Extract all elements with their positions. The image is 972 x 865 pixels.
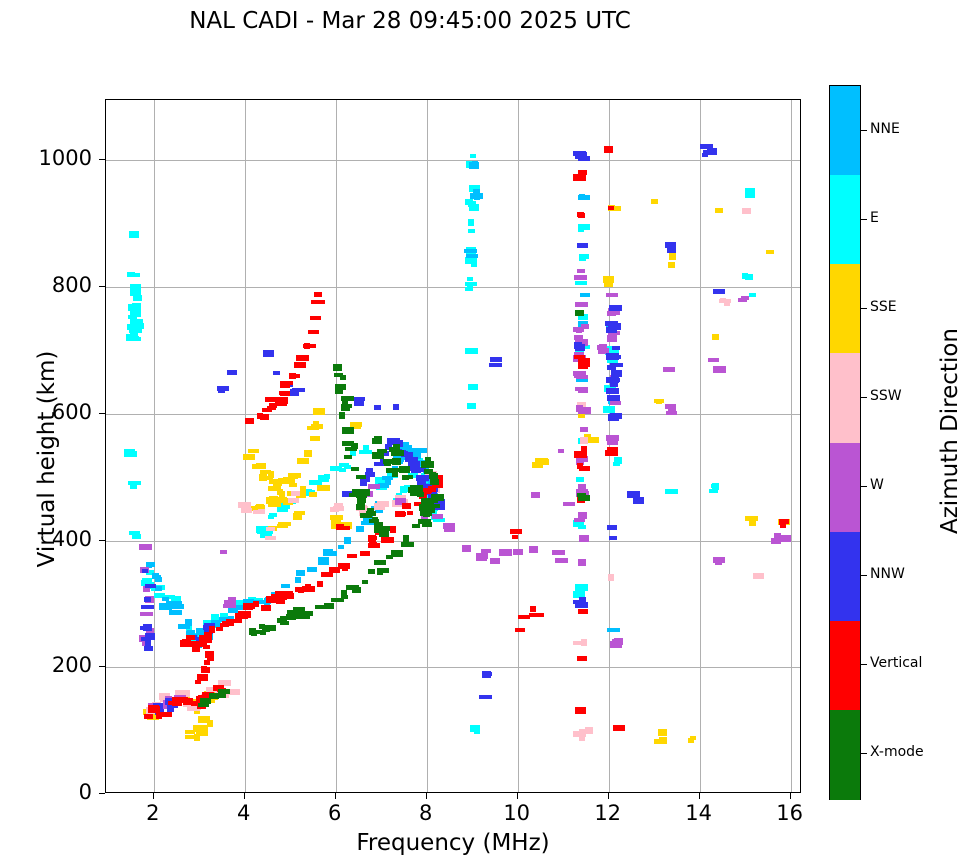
echo-marker [310,316,321,320]
echo-marker [719,299,731,303]
echo-marker [281,595,294,599]
echo-marker [749,293,756,297]
echo-marker [334,373,343,377]
echo-marker [607,441,618,445]
echo-marker [368,536,377,540]
echo-marker [651,199,658,204]
echo-marker [668,262,675,268]
echo-marker [688,738,694,743]
colorbar-label-x-mode: X-mode [870,744,924,760]
echo-marker [465,348,478,354]
echo-marker [310,436,320,441]
echo-marker [129,231,139,238]
x-tick-mark [335,793,336,799]
echo-marker [261,605,271,611]
echo-marker [610,401,621,405]
x-tick-label: 8 [406,801,446,825]
echo-marker [580,293,590,297]
echo-marker [529,613,542,617]
echo-marker [294,473,300,478]
colorbar-label-ssw: SSW [870,388,902,404]
echo-marker [218,689,230,694]
echo-marker [201,666,207,673]
echo-marker [428,504,440,508]
echo-marker [369,542,377,547]
echo-marker [401,542,414,547]
echo-marker [273,371,280,375]
echo-marker [251,630,257,636]
echo-marker [268,471,274,478]
echo-marker [196,731,208,736]
echo-marker [575,310,584,316]
echo-marker [317,485,330,491]
echo-marker [334,503,343,509]
echo-marker [338,545,344,549]
echo-marker [469,162,479,169]
echo-marker [467,403,476,409]
echo-marker [470,154,476,158]
echo-marker [536,459,549,465]
echo-marker [481,549,491,553]
echo-marker [669,253,676,260]
echo-marker [265,536,276,540]
echo-marker [490,558,500,564]
echo-marker [144,646,153,651]
echo-marker [609,536,617,540]
echo-marker [209,626,215,633]
echo-marker [139,544,152,550]
echo-marker [133,295,142,301]
echo-marker [391,550,403,557]
echo-marker [294,362,306,368]
echo-marker [315,605,324,609]
echo-marker [416,475,429,481]
colorbar-tick [861,486,867,487]
echo-marker [577,212,584,217]
echo-marker [155,577,162,582]
colorbar-label-nne: NNE [870,121,900,137]
echo-marker [337,526,350,530]
echo-marker [356,526,364,532]
echo-marker [614,457,622,464]
echo-marker [577,463,583,469]
echo-marker [579,254,589,259]
echo-marker [374,503,385,510]
echo-marker [224,600,234,607]
echo-marker [606,377,619,383]
echo-marker [335,390,343,394]
y-tick-label: 200 [12,653,92,677]
echo-marker [607,311,616,316]
echo-marker [711,484,719,488]
echo-marker [432,514,443,519]
echo-marker [753,573,764,579]
echo-marker [530,606,536,612]
echo-marker [304,450,312,457]
echo-marker [351,467,359,471]
echo-marker [603,406,615,413]
ionogram-figure: NAL CADI - Mar 28 09:45:00 2025 UTC 2468… [0,0,972,865]
colorbar-title: Azimuth Direction [937,276,963,586]
echo-marker [490,357,502,362]
colorbar[interactable] [829,85,861,800]
colorbar-label-w: W [870,477,884,493]
echo-marker [287,381,293,385]
echo-marker [579,194,585,200]
echo-marker [314,292,322,297]
echo-marker [238,611,251,618]
echo-marker [515,628,525,632]
echo-marker [366,511,376,516]
x-tick-mark [699,793,700,799]
echo-marker [277,524,288,528]
echo-marker [410,485,423,492]
echo-marker [207,720,213,727]
echo-marker [514,551,521,555]
echo-marker [749,521,756,526]
x-axis-title: Frequency (MHz) [105,830,801,856]
echo-marker [292,388,305,392]
echo-marker [468,229,475,233]
x-tick-label: 6 [315,801,355,825]
echo-marker [277,397,283,402]
echo-marker [259,474,267,481]
y-axis-title: Virtual height (km) [34,309,60,609]
echo-marker [577,656,587,661]
echo-marker [330,515,343,520]
echo-marker [713,289,725,294]
echo-marker [574,371,585,378]
figure-title: NAL CADI - Mar 28 09:45:00 2025 UTC [0,8,820,34]
echo-marker [354,400,364,406]
echo-marker [611,437,618,441]
echo-marker [341,407,350,411]
echo-marker [392,472,398,477]
echo-marker [606,293,618,297]
echo-marker [339,412,345,419]
echo-marker [468,384,478,390]
echo-marker [578,512,587,519]
colorbar-segment-w[interactable] [830,443,860,533]
echo-marker [575,302,588,307]
echo-marker [389,468,401,472]
x-tick-label: 16 [770,801,810,825]
echo-marker [324,603,334,609]
echo-marker [609,447,618,452]
echo-marker [575,152,587,159]
echo-marker [606,353,619,360]
echo-marker [385,479,391,485]
echo-marker [610,363,623,367]
echo-marker [281,584,290,588]
echo-marker [585,727,593,734]
echo-marker [779,535,791,542]
echo-marker [293,513,302,520]
echo-marker [126,336,139,340]
colorbar-label-e: E [870,210,879,226]
echo-marker [713,366,726,373]
echo-marker [260,414,269,420]
colorbar-segment-sse[interactable] [830,264,860,354]
echo-marker [267,406,276,410]
echo-marker [467,283,473,290]
echo-marker [658,729,667,736]
x-tick-mark [153,793,154,799]
echo-marker [659,737,667,743]
x-tick-mark [790,793,791,799]
echo-marker [578,525,586,529]
echo-marker [229,619,242,623]
echo-marker [144,597,151,602]
echo-marker [243,454,255,460]
x-tick-mark [517,793,518,799]
echo-marker [468,201,476,207]
echo-marker [749,189,755,194]
echo-marker [474,727,480,734]
echo-marker [713,557,725,563]
colorbar-segment-nne[interactable] [830,86,860,176]
echo-marker [402,503,411,509]
echo-marker [611,370,622,377]
echo-marker [356,492,367,498]
echo-marker [356,475,366,479]
echo-marker [412,524,420,528]
echo-marker [430,479,439,485]
echo-marker [146,562,152,567]
echo-marker [291,491,300,496]
echo-marker [607,628,620,632]
colorbar-segment-nnw[interactable] [830,532,860,622]
x-tick-label: 4 [224,801,264,825]
echo-marker [607,525,617,530]
echo-marker [385,538,392,542]
echo-marker [347,554,357,558]
echo-marker [654,399,664,403]
y-tick-mark [99,159,105,160]
echo-marker [552,550,565,555]
echo-marker [423,513,430,517]
y-tick-label: 800 [12,273,92,297]
echo-marker [663,367,675,372]
echo-marker [128,304,141,311]
echo-marker [558,449,564,453]
echo-marker [309,492,317,497]
echo-marker [402,475,409,480]
echo-marker [352,587,361,593]
echo-marker [510,529,522,534]
echo-marker [421,461,434,468]
echo-marker [529,546,538,553]
echo-marker [715,208,723,213]
echo-marker [612,639,620,645]
echo-marker [576,477,584,482]
echo-marker [573,174,586,181]
echo-marker [127,272,135,277]
echo-marker [531,494,540,498]
colorbar-tick [861,130,867,131]
colorbar-tick [861,575,867,576]
colorbar-tick [861,308,867,309]
echo-marker [128,315,137,319]
echo-marker [418,519,431,524]
echo-marker [575,602,588,608]
echo-marker [297,458,309,464]
echo-marker [129,329,142,333]
echo-marker [578,362,588,369]
y-tick-mark [99,540,105,541]
colorbar-segment-ssw[interactable] [830,353,860,443]
echo-marker [162,712,172,717]
echo-marker [604,146,613,153]
x-tick-label: 2 [133,801,173,825]
echo-marker [341,595,348,599]
echo-marker [578,226,584,232]
echo-marker [360,481,367,486]
echo-marker [578,559,586,566]
echo-marker [374,560,386,565]
echo-marker [579,735,585,741]
echo-marker [145,633,155,640]
echo-marker [443,523,455,529]
echo-marker [603,276,614,283]
echo-marker [745,194,755,198]
echo-marker [606,388,619,394]
echo-marker [366,468,373,474]
echo-marker [286,614,294,620]
echo-marker [268,625,276,631]
echo-marker [424,469,433,474]
echo-marker [399,466,410,473]
echo-marker [464,249,477,253]
echo-marker [144,714,153,719]
echo-marker [390,526,396,533]
y-tick-mark [99,413,105,414]
echo-marker [129,531,140,535]
echo-marker [238,502,251,508]
echo-marker [580,437,588,444]
echo-marker [307,567,317,572]
echo-marker [360,498,366,503]
y-tick-mark [99,286,105,287]
y-tick-mark [99,666,105,667]
colorbar-label-nnw: NNW [870,566,905,582]
echo-marker [280,391,290,396]
echo-marker [578,387,588,393]
echo-marker [379,531,389,537]
echo-marker [411,468,421,473]
echo-marker [141,605,154,609]
echo-marker [707,151,716,155]
echo-marker [241,508,252,513]
echo-marker [374,405,381,410]
echo-marker [462,545,471,552]
plot-area[interactable] [105,99,801,793]
echo-marker [245,418,254,424]
echo-marker [296,570,305,576]
echo-marker [574,451,587,458]
echo-marker [708,358,719,362]
echo-marker [186,635,195,640]
echo-marker [130,284,141,290]
echo-marker [263,350,274,357]
echo-marker [465,257,476,264]
echo-marker [608,206,614,210]
echo-marker [577,493,586,497]
echo-marker [185,735,196,739]
echo-marker [359,450,372,454]
echo-marker [313,408,325,415]
echo-marker [474,194,480,200]
echo-marker [156,712,162,719]
echo-marker [266,527,275,531]
echo-marker [333,364,342,371]
echo-marker [311,300,324,304]
colorbar-label-vertical: Vertical [870,655,922,671]
colorbar-tick [861,219,867,220]
echo-marker [374,522,383,527]
echo-marker [578,414,585,418]
echo-marker [742,273,748,279]
echo-marker [356,504,365,510]
echo-marker [742,208,751,214]
echo-marker [577,269,585,273]
echo-marker [712,334,719,340]
echo-marker [305,584,311,588]
echo-marker [288,498,299,503]
echo-marker [260,630,266,635]
echo-marker [608,326,617,331]
echo-marker [169,610,182,615]
y-tick-label: 1000 [12,146,92,170]
echo-marker [407,458,417,462]
echo-marker [741,296,749,300]
echo-marker [317,581,323,587]
echo-marker [155,586,162,591]
echo-marker [197,674,208,681]
echo-marker [360,551,370,556]
echo-marker [395,511,405,517]
echo-marker [555,558,568,563]
echo-marker [578,170,587,175]
echo-marker [575,584,588,591]
echo-marker [393,404,399,410]
colorbar-segment-x-mode[interactable] [830,710,860,800]
echo-marker [575,707,586,714]
echo-marker [311,424,323,429]
echo-marker [142,569,148,573]
colorbar-tick [861,753,867,754]
echo-marker [143,624,152,631]
echo-marker [384,461,391,466]
echo-marker [579,535,589,542]
echo-marker [170,601,182,608]
echo-marker [482,671,491,678]
x-tick-mark [426,793,427,799]
echo-marker [318,475,329,482]
echo-marker [577,243,588,248]
echo-marker [575,344,585,351]
echo-marker [479,695,492,699]
echo-marker [709,489,718,493]
echo-marker [205,651,214,658]
colorbar-segment-e[interactable] [830,175,860,265]
echo-marker [303,344,316,348]
echo-marker [249,603,255,609]
echo-marker [580,427,588,432]
colorbar-segment-vertical[interactable] [830,621,860,711]
echo-marker [220,550,227,554]
echo-marker [417,492,424,497]
